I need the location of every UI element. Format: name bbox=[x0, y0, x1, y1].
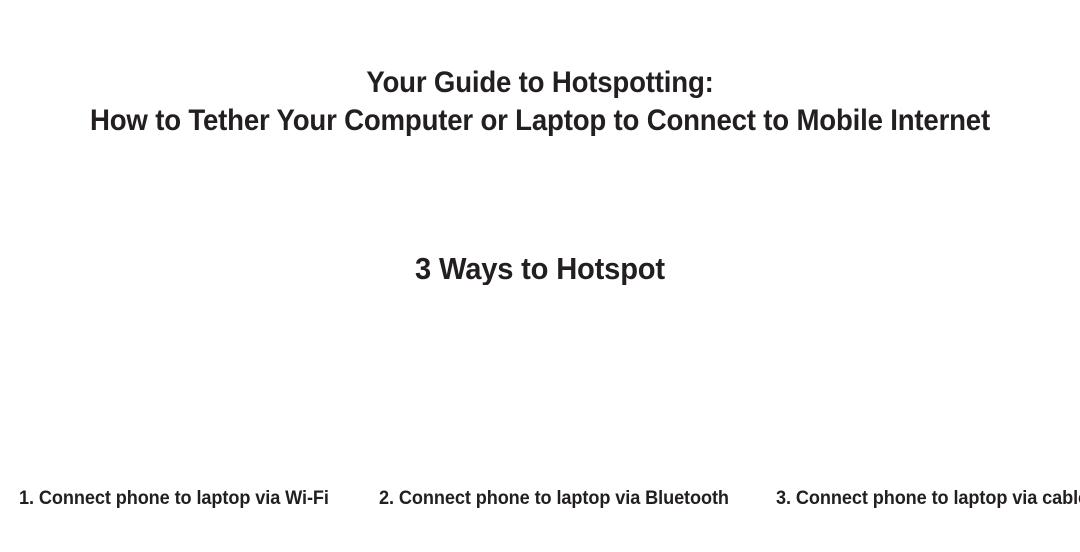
method-illustrations-gallery bbox=[0, 285, 1080, 480]
method-illustration-1 bbox=[14, 285, 344, 480]
section-heading: 3 Ways to Hotspot bbox=[32, 251, 1047, 287]
method-illustration-2 bbox=[374, 285, 704, 480]
method-caption-bluetooth: 2. Connect phone to laptop via Bluetooth bbox=[379, 486, 729, 510]
article-page: Your Guide to Hotspotting: How to Tether… bbox=[0, 0, 1080, 552]
page-title-line-2: How to Tether Your Computer or Laptop to… bbox=[43, 102, 1037, 140]
page-title: Your Guide to Hotspotting: How to Tether… bbox=[43, 64, 1037, 140]
method-caption-cable: 3. Connect phone to laptop via cable bbox=[776, 486, 1080, 510]
method-caption-wifi: 1. Connect phone to laptop via Wi-Fi bbox=[19, 486, 329, 510]
page-title-line-1: Your Guide to Hotspotting: bbox=[43, 64, 1037, 102]
method-caption-row: 1. Connect phone to laptop via Wi-Fi 2. … bbox=[0, 486, 1080, 514]
method-illustration-3 bbox=[734, 285, 1066, 480]
